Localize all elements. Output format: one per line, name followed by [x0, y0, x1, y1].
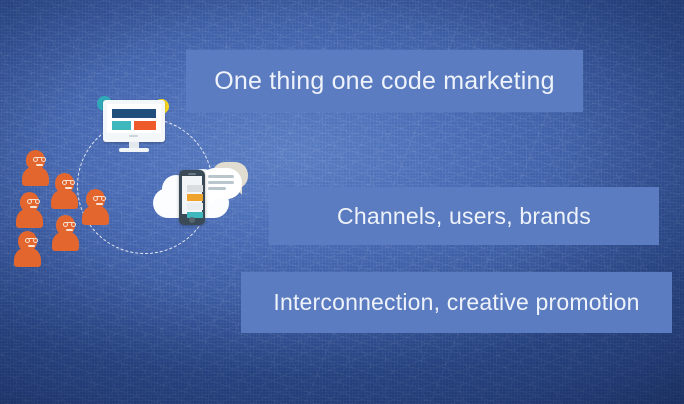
monitor-screen	[107, 104, 161, 133]
avatar-head	[56, 215, 75, 235]
avatar-brow	[65, 180, 71, 182]
avatar-mouth	[36, 164, 43, 166]
avatar-brow	[96, 196, 102, 198]
headline-banner-2: Channels, users, brands	[269, 187, 659, 245]
phone-row-2	[187, 194, 203, 201]
bubble-text-line	[208, 181, 234, 184]
headline-text-1: One thing one code marketing	[214, 67, 555, 96]
phone-screen	[182, 176, 202, 214]
avatar-head	[55, 173, 74, 193]
phone-earpiece	[188, 173, 196, 175]
monitor-body	[103, 100, 165, 142]
avatar-brow	[28, 238, 34, 240]
slide-canvas: One thing one code marketing Channels, u…	[0, 0, 684, 404]
avatar-head	[26, 150, 45, 170]
avatar-mouth	[28, 245, 35, 247]
headline-text-3: Interconnection, creative promotion	[273, 289, 639, 316]
screen-tile-right	[134, 121, 156, 130]
avatar-brow	[66, 222, 72, 224]
headline-text-2: Channels, users, brands	[337, 203, 591, 230]
avatar-mouth	[65, 187, 72, 189]
screen-tile-left	[112, 121, 131, 130]
avatar-mouth	[96, 203, 103, 205]
avatar-brow	[30, 199, 36, 201]
desktop-monitor-icon	[103, 100, 165, 154]
bubble-text-line	[208, 187, 226, 190]
avatar-head	[86, 189, 105, 209]
screen-header-bar	[112, 109, 156, 118]
headline-banner-3: Interconnection, creative promotion	[241, 272, 672, 333]
headline-banner-1: One thing one code marketing	[186, 50, 583, 112]
avatar-brow	[36, 157, 42, 159]
network-marketing-illustration	[0, 88, 260, 288]
avatar-head	[20, 192, 39, 212]
bubble-text-line	[208, 175, 234, 178]
smartphone-icon	[179, 170, 205, 225]
avatar-head	[18, 231, 37, 251]
phone-home-button	[189, 217, 195, 223]
avatar-mouth	[66, 229, 73, 231]
monitor-stand-foot	[119, 148, 149, 152]
avatar-mouth	[30, 206, 37, 208]
chat-bubble-front-icon	[200, 168, 242, 199]
monitor-chin-logo	[129, 135, 138, 137]
phone-row-1	[187, 185, 203, 192]
phone-row-3	[187, 203, 203, 210]
